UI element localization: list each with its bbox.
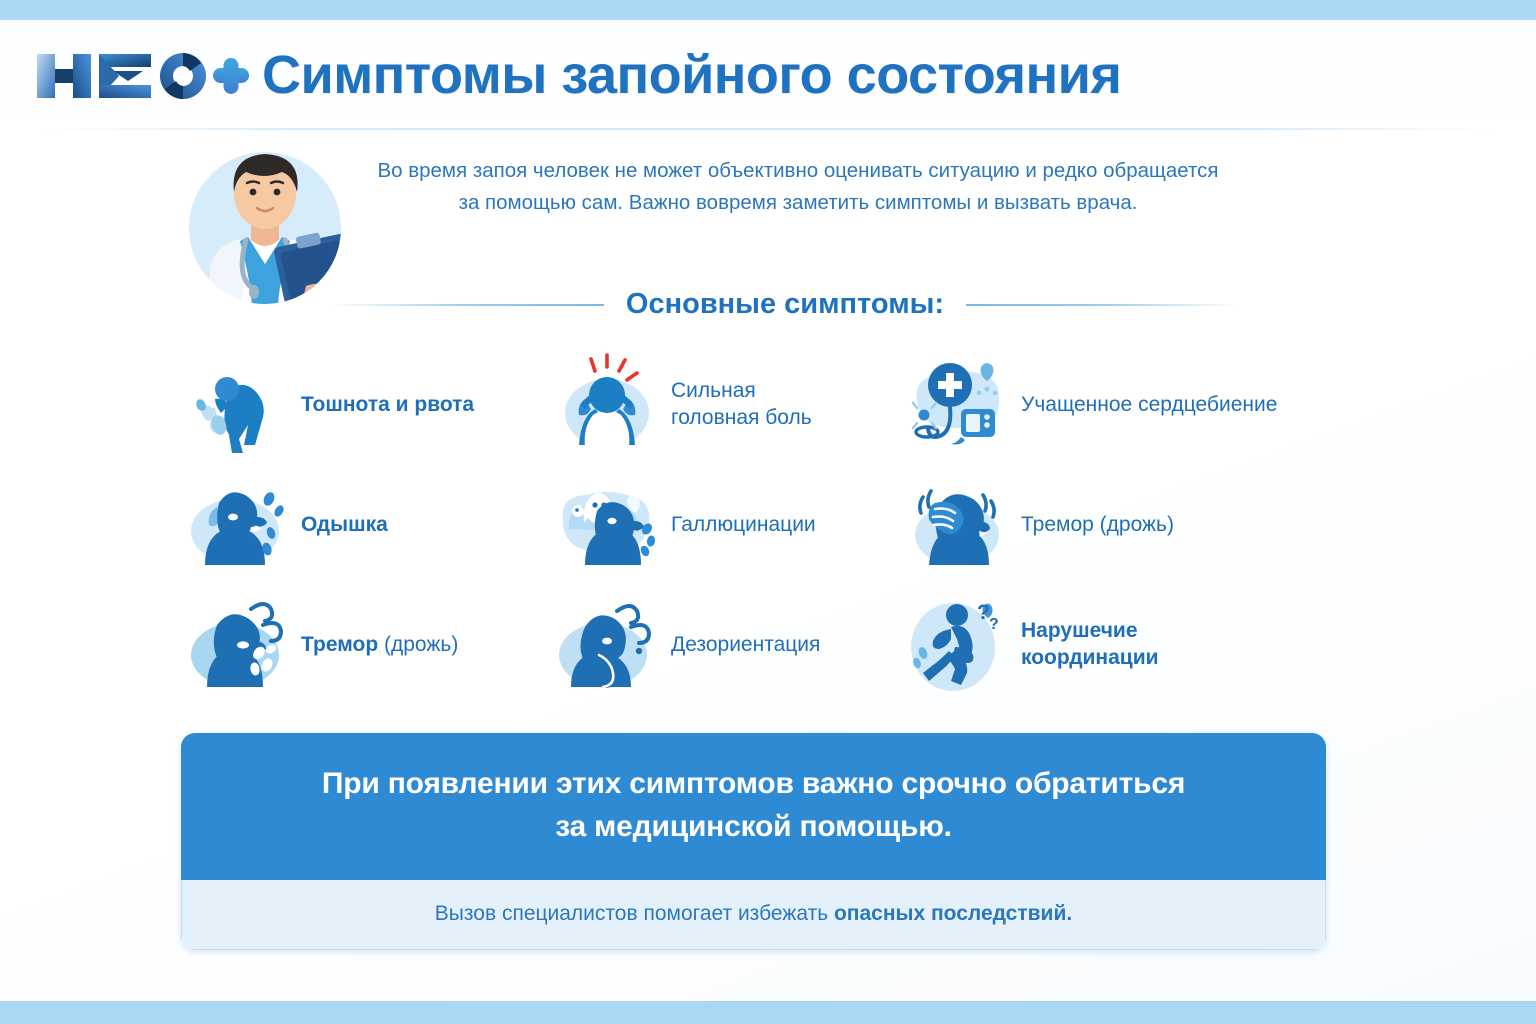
section-heading-label: Основные симптомы:	[626, 288, 944, 321]
top-decorative-band	[0, 0, 1536, 20]
symptom-item: Тремор (дрожь)	[905, 470, 1345, 580]
symptom-item: ? ? Нарушечие координации	[905, 590, 1345, 700]
symptom-label: Галлюцинации	[671, 512, 816, 539]
symptom-label-main: Тремор	[301, 633, 378, 656]
callout-main-line-1: При появлении этих симптомов важно срочн…	[221, 763, 1286, 806]
symptom-label-line-2: головная боль	[671, 406, 812, 429]
symptom-label: Нарушечие координации	[1021, 618, 1159, 672]
callout-main-line-2: за медицинской помощью.	[221, 806, 1286, 849]
heart-rate-monitor-icon	[905, 353, 1009, 457]
call-to-action-callout: При появлении этих симптомов важно срочн…	[181, 733, 1326, 950]
symptom-item: Тремор (дрожь)	[185, 590, 555, 700]
page-title: Симптомы запойного состояния	[262, 44, 1121, 106]
heading-rule-right	[966, 304, 1240, 306]
sweating-tremor-icon	[185, 593, 289, 697]
symptom-item: Дезориентация	[555, 590, 905, 700]
symptom-label-line-2: координации	[1021, 646, 1159, 669]
symptom-item: Учащенное сердцебиение	[905, 350, 1345, 460]
trembling-head-hands-icon	[905, 473, 1009, 577]
intro-paragraph: Во время запоя человек не может объектив…	[318, 155, 1278, 219]
symptom-item: Галлюцинации	[555, 470, 905, 580]
symptom-label: Учащенное сердцебиение	[1021, 392, 1277, 419]
symptom-label: Тремор (дрожь)	[1021, 512, 1174, 539]
svg-text:?: ?	[989, 616, 999, 633]
callout-sub-message: Вызов специалистов помогает избежать опа…	[181, 880, 1326, 950]
hallucination-ghost-icon	[555, 473, 659, 577]
symptom-label-sub: (дрожь)	[378, 633, 458, 656]
infographic-page: Симптомы запойного состояния	[0, 0, 1536, 1024]
symptom-label-line-1: Нарушечие	[1021, 619, 1138, 642]
callout-sub-emphasis: опасных последствий.	[834, 902, 1072, 925]
symptom-item: Одышка	[185, 470, 555, 580]
headache-person-icon	[555, 353, 659, 457]
symptom-label: Тремор (дрожь)	[301, 632, 458, 659]
section-heading: Основные симптомы:	[330, 288, 1240, 321]
callout-sub-prefix: Вызов специалистов помогает избежать	[435, 902, 834, 925]
disorientation-thinking-icon	[555, 593, 659, 697]
callout-main-message: При появлении этих симптомов важно срочн…	[181, 733, 1326, 880]
symptom-label: Сильная головная боль	[671, 378, 812, 432]
intro-line-2: за помощью сам. Важно вовремя заметить с…	[318, 187, 1278, 219]
heading-rule-left	[330, 304, 604, 306]
symptom-grid: Тошнота и рвота	[185, 345, 1345, 705]
intro-line-1: Во время запоя человек не может объектив…	[318, 155, 1278, 187]
vomiting-person-icon	[185, 353, 289, 457]
symptom-label-line-1: Сильная	[671, 379, 756, 402]
symptom-item: Сильная головная боль	[555, 350, 905, 460]
neo-plus-logo[interactable]	[33, 47, 251, 105]
symptom-label: Одышка	[301, 512, 388, 539]
shortness-of-breath-icon	[185, 473, 289, 577]
svg-text:?: ?	[977, 601, 990, 624]
header-divider	[40, 128, 1496, 130]
loss-of-coordination-icon: ? ?	[905, 593, 1009, 697]
symptom-item: Тошнота и рвота	[185, 350, 555, 460]
symptom-label: Дезориентация	[671, 632, 820, 659]
symptom-label: Тошнота и рвота	[301, 392, 474, 419]
bottom-decorative-band	[0, 1001, 1536, 1024]
